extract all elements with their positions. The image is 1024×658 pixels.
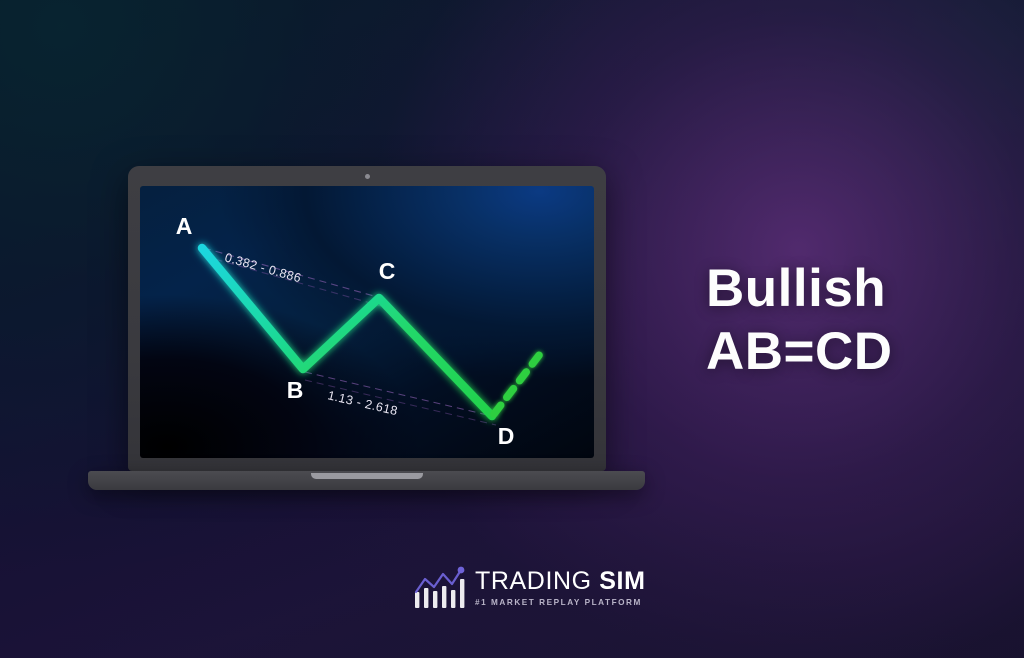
logo-text: TRADING SIM #1 MARKET REPLAY PLATFORM [475,569,646,607]
title-line-2: AB=CD [706,321,1006,384]
laptop-trackpad-notch [311,473,423,479]
title-line-1: Bullish [706,258,1006,321]
webcam-icon [365,174,370,179]
point-label-d: D [498,423,515,449]
bar-chart-line-icon [414,566,466,610]
projection-dashed-line [494,354,540,414]
logo-wordmark: TRADING SIM [475,569,646,594]
logo-tagline: #1 MARKET REPLAY PLATFORM [475,599,646,607]
ratio-label-bd: 1.13 - 2.618 [326,388,399,418]
brand-logo: TRADING SIM #1 MARKET REPLAY PLATFORM [414,566,646,610]
point-label-c: C [379,258,396,284]
logo-word-sim: SIM [599,567,645,595]
abcd-polyline [202,248,492,416]
laptop-screen: A B C D 0.382 - 0.886 1.13 - 2.618 [140,186,594,458]
point-label-b: B [287,377,304,403]
point-label-a: A [176,213,193,239]
page-title: Bullish AB=CD [706,258,1006,383]
logo-word-trading: TRADING [475,567,592,595]
laptop-lid: A B C D 0.382 - 0.886 1.13 - 2.618 [128,166,606,471]
poster-canvas: A B C D 0.382 - 0.886 1.13 - 2.618 Bulli… [0,0,1024,658]
abcd-pattern-chart: A B C D 0.382 - 0.886 1.13 - 2.618 [140,186,594,458]
ratio-label-ac: 0.382 - 0.886 [223,250,303,285]
laptop-base [88,471,645,490]
